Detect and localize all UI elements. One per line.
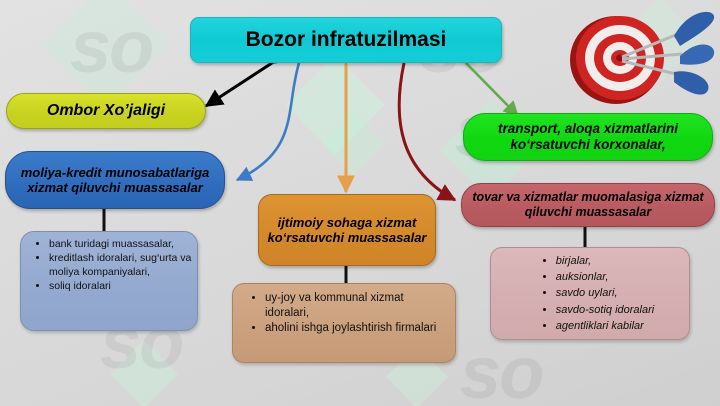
list-item: birjalar,	[556, 254, 654, 269]
arrow-title-goods	[399, 63, 455, 200]
diagram-canvas: so so so so so	[0, 0, 720, 406]
goods-item-list: birjalar, auksionlar, savdo uylari, savd…	[534, 254, 654, 335]
page-title: Bozor infratuzilmasi	[190, 17, 502, 63]
list-item: agentliklari kabilar	[556, 319, 654, 334]
node-goods: tovar va xizmatlar muomalasiga xizmat qi…	[461, 183, 715, 227]
node-warehouse: Ombor Xo’jaligi	[6, 93, 206, 129]
transport-label: transport, aloqa xizmatlarini ko‘rsatuvc…	[464, 121, 712, 153]
list-item: soliq idoralari	[49, 280, 193, 293]
dartboard-icon	[562, 2, 718, 106]
social-items-box: uy-joy va kommunal xizmat idoralari, aho…	[232, 283, 456, 363]
finance-item-list: bank turidagi muassasalar, kreditlash id…	[27, 238, 193, 295]
social-item-list: uy-joy va kommunal xizmat idoralari, aho…	[243, 291, 449, 337]
list-item: bank turidagi muassasalar,	[49, 238, 193, 251]
list-item: kreditlash idoralari, sug‘urta va moliya…	[49, 252, 193, 279]
list-item: savdo-sotiq idoralari	[556, 303, 654, 318]
goods-label: tovar va xizmatlar muomalasiga xizmat qi…	[462, 190, 714, 220]
node-finance: moliya-kredit munosabatlariga xizmat qil…	[5, 151, 225, 209]
node-social: ijtimoiy sohaga xizmat ko‘rsatuvchi muas…	[258, 194, 436, 266]
arrow-title-transport	[466, 63, 518, 116]
goods-items-box: birjalar, auksionlar, savdo uylari, savd…	[490, 247, 690, 340]
arrow-title-warehouse	[206, 63, 272, 106]
list-item: savdo uylari,	[556, 286, 654, 301]
social-label: ijtimoiy sohaga xizmat ko‘rsatuvchi muas…	[259, 215, 435, 246]
list-item: aholini ishga joylashtirish firmalari	[265, 321, 449, 336]
list-item: uy-joy va kommunal xizmat idoralari,	[265, 291, 449, 320]
warehouse-label: Ombor Xo’jaligi	[7, 102, 205, 121]
finance-items-box: bank turidagi muassasalar, kreditlash id…	[20, 231, 198, 331]
title-text: Bozor infratuzilmasi	[191, 28, 501, 53]
list-item: auksionlar,	[556, 270, 654, 285]
finance-label: moliya-kredit munosabatlariga xizmat qil…	[6, 165, 224, 196]
node-transport: transport, aloqa xizmatlarini ko‘rsatuvc…	[463, 113, 713, 161]
